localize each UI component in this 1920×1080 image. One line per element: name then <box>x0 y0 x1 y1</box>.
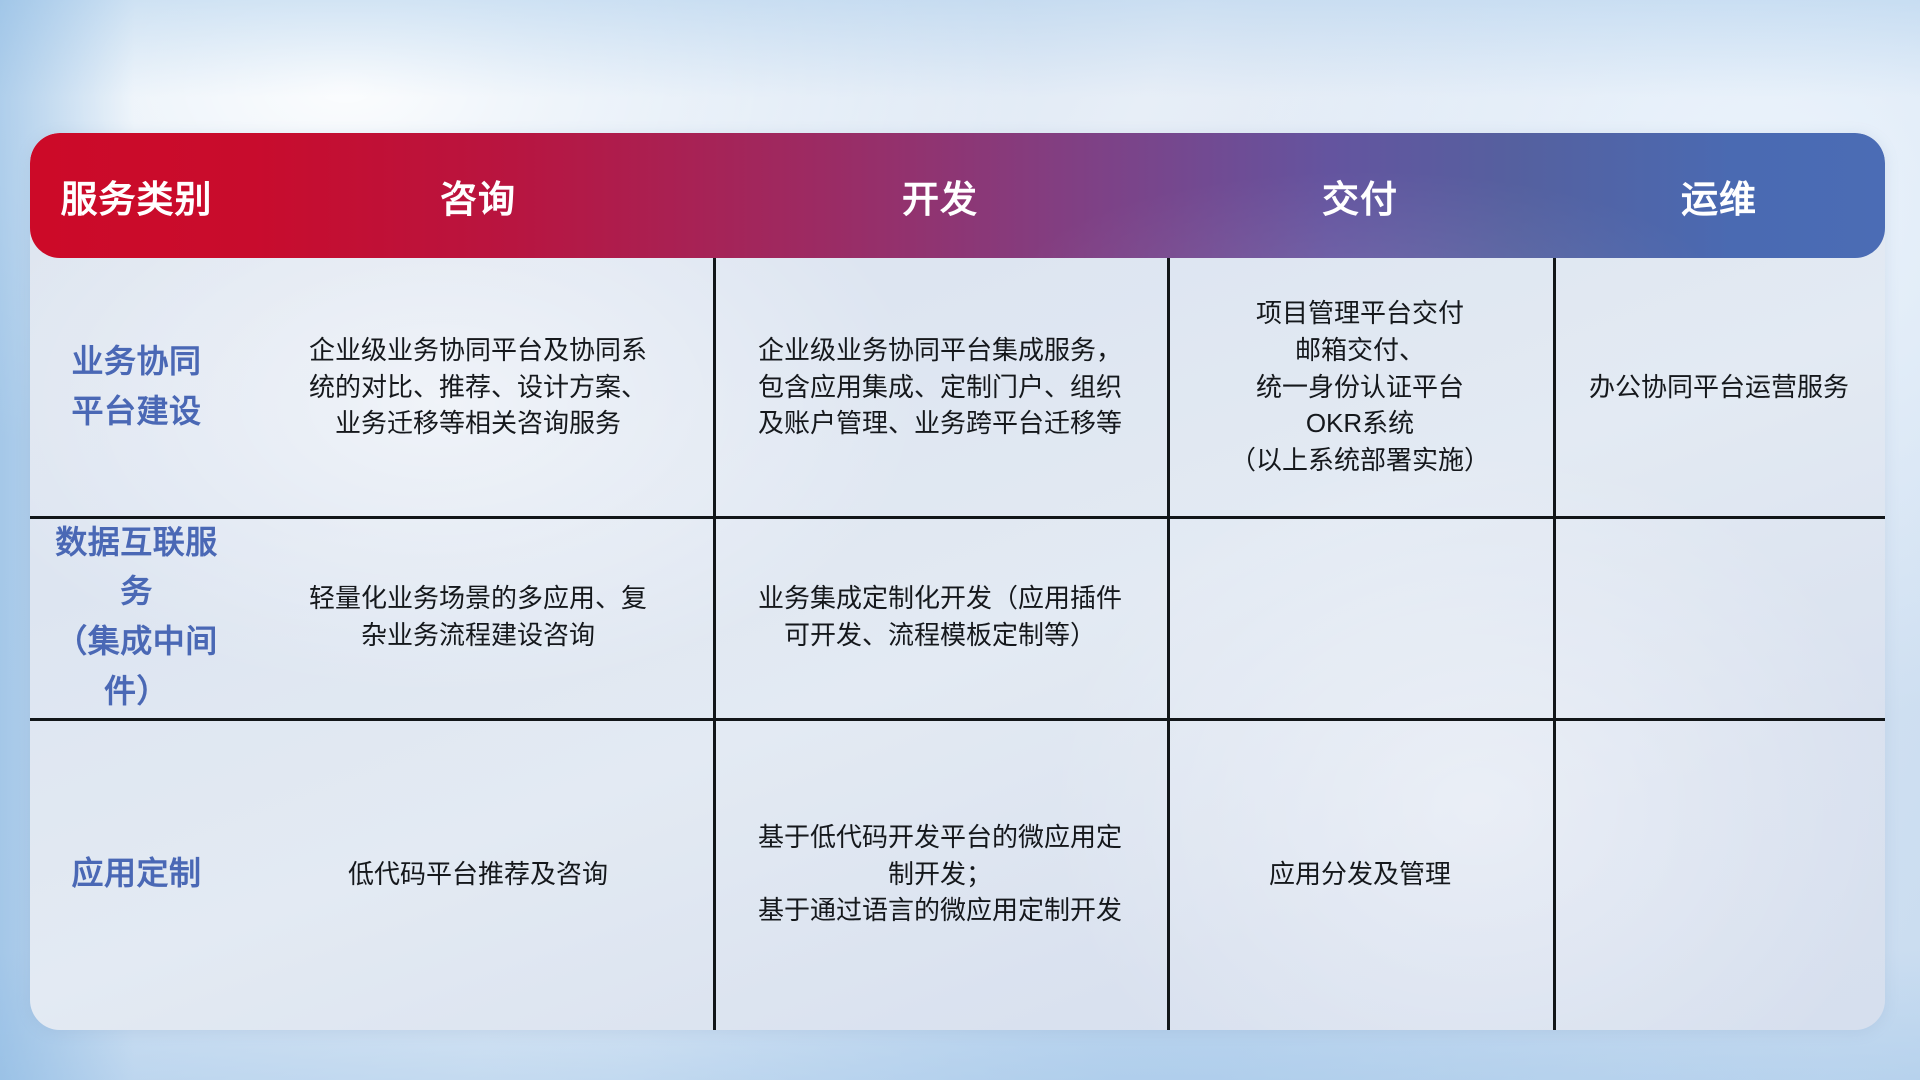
table-body: 业务协同 平台建设 企业级业务协同平台及协同系 统的对比、推荐、设计方案、 业务… <box>30 258 1885 1030</box>
column-header-consulting: 咨询 <box>243 169 713 223</box>
column-divider <box>713 258 716 1030</box>
cell-development: 基于低代码开发平台的微应用定 制开发； 基于通过语言的微应用定制开发 <box>713 718 1167 1030</box>
cell-category: 业务协同 平台建设 <box>30 258 243 516</box>
cell-delivery: 项目管理平台交付 邮箱交付、 统一身份认证平台 OKR系统 （以上系统部署实施） <box>1167 258 1553 516</box>
cell-development: 企业级业务协同平台集成服务， 包含应用集成、定制门户、组织 及账户管理、业务跨平… <box>713 258 1167 516</box>
cell-operations <box>1553 718 1885 1030</box>
cell-consulting: 低代码平台推荐及咨询 <box>243 718 713 1030</box>
table-row: 数据互联服务 （集成中间件） 轻量化业务场景的多应用、复 杂业务流程建设咨询 业… <box>30 516 1885 718</box>
service-matrix-table: 服务类别 咨询 开发 交付 运维 业务协同 平台建设 企业级业务协同平台及协同系… <box>30 133 1885 1030</box>
column-header-operations: 运维 <box>1553 169 1885 223</box>
table-row: 业务协同 平台建设 企业级业务协同平台及协同系 统的对比、推荐、设计方案、 业务… <box>30 258 1885 516</box>
cell-consulting: 企业级业务协同平台及协同系 统的对比、推荐、设计方案、 业务迁移等相关咨询服务 <box>243 258 713 516</box>
row-divider <box>30 516 1885 519</box>
cell-consulting: 轻量化业务场景的多应用、复 杂业务流程建设咨询 <box>243 516 713 718</box>
column-divider <box>1167 258 1170 1030</box>
cell-delivery: 应用分发及管理 <box>1167 718 1553 1030</box>
cell-operations <box>1553 516 1885 718</box>
cell-category: 数据互联服务 （集成中间件） <box>30 516 243 718</box>
cell-operations: 办公协同平台运营服务 <box>1553 258 1885 516</box>
cell-delivery <box>1167 516 1553 718</box>
table-header-row: 服务类别 咨询 开发 交付 运维 <box>30 133 1885 258</box>
column-divider <box>1553 258 1556 1030</box>
cell-category: 应用定制 <box>30 718 243 1030</box>
column-header-development: 开发 <box>713 169 1167 223</box>
table-row: 应用定制 低代码平台推荐及咨询 基于低代码开发平台的微应用定 制开发； 基于通过… <box>30 718 1885 1030</box>
row-divider <box>30 718 1885 721</box>
cell-development: 业务集成定制化开发（应用插件 可开发、流程模板定制等） <box>713 516 1167 718</box>
column-header-service-category: 服务类别 <box>30 169 243 223</box>
column-header-delivery: 交付 <box>1167 169 1553 223</box>
